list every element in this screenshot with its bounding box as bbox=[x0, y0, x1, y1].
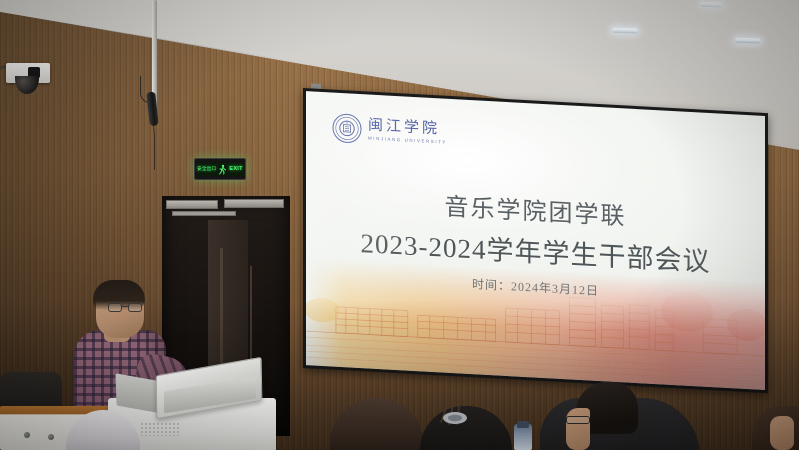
wall-cable bbox=[141, 118, 155, 170]
security-camera-icon bbox=[6, 63, 50, 97]
audience-glasses-icon bbox=[566, 416, 590, 424]
university-logo: 闽江学院 MINJIANG UNIVERSITY bbox=[332, 113, 447, 149]
presentation-slide: 闽江学院 MINJIANG UNIVERSITY 音乐学院团学联 2023-20… bbox=[306, 91, 765, 390]
hair-clip-icon bbox=[437, 404, 471, 426]
ceiling-light-3 bbox=[700, 2, 722, 8]
door-closer-left bbox=[166, 200, 218, 209]
projection-screen: 闽江学院 MINJIANG UNIVERSITY 音乐学院团学联 2023-20… bbox=[303, 88, 768, 393]
lectern-speaker-grille bbox=[140, 422, 180, 436]
running-man-icon bbox=[218, 164, 227, 175]
audience-face-profile bbox=[566, 408, 590, 450]
exit-sign: 安全出口 EXIT bbox=[194, 158, 246, 180]
door-closer-right bbox=[224, 199, 284, 208]
ceiling-light-2 bbox=[735, 38, 761, 44]
screen-frame: 闽江学院 MINJIANG UNIVERSITY 音乐学院团学联 2023-20… bbox=[303, 88, 768, 393]
audience-face-right bbox=[770, 416, 794, 450]
bottle-cap bbox=[517, 421, 529, 428]
ceiling-light-1 bbox=[612, 28, 638, 34]
exit-sign-label-cn: 安全出口 bbox=[197, 166, 216, 172]
door-rail bbox=[172, 211, 236, 216]
presenter-glasses-icon bbox=[108, 303, 144, 313]
photo-scene: 安全出口 EXIT bbox=[0, 0, 799, 450]
university-seal-icon bbox=[332, 113, 362, 145]
exit-sign-label-en: EXIT bbox=[229, 166, 242, 172]
